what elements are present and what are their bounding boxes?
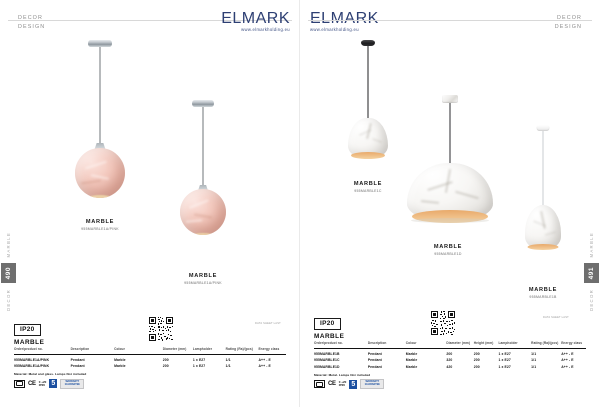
cell-energy-class: A++ - E <box>258 355 286 363</box>
ip-small-icon: 0 +20 IP20 <box>39 381 47 387</box>
col-order-no: Order/product no. <box>314 342 368 349</box>
product-name: MARBLE <box>529 287 557 293</box>
col-rating: Rating (Ra)/(pcs) <box>531 342 561 349</box>
side-tab-right: MARBLE 491 DECOR <box>584 232 599 312</box>
side-tab-top-label: MARBLE <box>6 232 11 257</box>
col-diameter: Diameter (mm) <box>446 342 473 349</box>
header-decor-design-left: DECOR DESIGN <box>18 14 45 36</box>
material-note: Material: Metal. Lamps Not included <box>314 373 586 377</box>
cell-colour: Marble <box>406 349 447 357</box>
cell-colour: Marble <box>114 355 163 363</box>
brand-logo-url: www.elmarkholding.eu <box>310 28 379 32</box>
header-line-2: DESIGN <box>555 23 582 32</box>
product-caption-1: MARBLE 955MARBLE1A/PINK <box>81 219 119 231</box>
cell-rating: 1/1 <box>531 363 561 369</box>
col-height: Height (mm) <box>474 342 499 349</box>
col-colour: Colour <box>114 348 163 355</box>
cell-description: Pendant <box>368 363 406 369</box>
page-number-right: 491 <box>584 263 599 283</box>
product-image-marble-globe-2 <box>163 100 243 260</box>
header-decor-design-right: DECOR DESIGN <box>555 14 582 36</box>
page-number-right-value: 491 <box>588 267 595 279</box>
col-energy-class: Energy class <box>561 342 586 349</box>
cell-colour: Marble <box>114 363 163 369</box>
product-caption-a: MARBLE 955MARBLE1C <box>354 181 382 193</box>
col-description: Description <box>71 348 114 355</box>
shade-rim <box>411 218 489 223</box>
product-caption-c: MARBLE 955MARBLE1B <box>529 287 557 299</box>
product-image-marble-globe-1 <box>60 40 140 200</box>
lamp-symbol-icon <box>14 380 25 389</box>
warranty-badge: WARRANTY GUARANTEE <box>60 379 84 389</box>
page-number-left: 490 <box>1 263 16 283</box>
canopy-chrome-icon <box>88 40 112 47</box>
shade-bottom-lip-2 <box>194 233 212 236</box>
cell-rating: 1/1 <box>226 363 259 369</box>
col-lampholder: Lampholder <box>193 348 226 355</box>
warranty-years-icon: 5 <box>49 379 57 388</box>
cell-colour: Marble <box>406 363 447 369</box>
warranty-text-2: GUARANTEE <box>365 384 380 387</box>
page-right: ELMARK www.elmarkholding.eu DECOR DESIGN… <box>300 0 600 407</box>
cell-rating: 1/1 <box>226 355 259 363</box>
cell-rating: 1/1 <box>531 349 561 357</box>
header-line-1: DECOR <box>555 14 582 23</box>
cell-description: Pendant <box>71 355 114 363</box>
shade-inner-gold <box>528 244 559 250</box>
header-line-1: DECOR <box>18 14 45 23</box>
brand-logo-text: ELMARK <box>221 11 290 27</box>
shade-white-marble-dome-small <box>525 205 561 249</box>
col-colour: Colour <box>406 342 447 349</box>
side-tab-top-label: MARBLE <box>589 232 594 257</box>
family-name: MARBLE <box>14 339 286 346</box>
canopy-marble-icon <box>442 95 458 103</box>
product-code: 955MARBLE1C <box>354 189 382 193</box>
spec-table-right: Order/product no. Description Colour Dia… <box>314 342 586 370</box>
certification-marks-left: CE 0 +20 IP20 5 WARRANTY GUARANTEE <box>14 379 286 389</box>
table-header-row: Order/product no. Description Colour Dia… <box>14 348 286 355</box>
cell-height: 200 <box>474 363 499 369</box>
table-row: 955MARBLE1A/PINK Pendant Marble 200 1 x … <box>14 363 286 369</box>
table-row: 955MARBLE1D Pendant Marble 420 200 1 x E… <box>314 363 586 369</box>
col-order-no: Order/product no. <box>14 348 71 355</box>
col-description: Description <box>368 342 406 349</box>
product-code: 955MARBLE1B <box>529 295 557 299</box>
cell-lampholder: 1 x E27 <box>193 363 226 369</box>
side-tab-left: MARBLE 490 DECOR <box>1 232 16 312</box>
cell-order-no: 955MARBLE1A/PINK <box>14 355 71 363</box>
cell-description: Pendant <box>368 349 406 357</box>
ip-small-bottom: IP20 <box>39 384 47 387</box>
ce-mark-icon: CE <box>28 381 36 387</box>
side-tab-bottom-label: DECOR <box>6 289 11 311</box>
suspension-cord-c <box>543 131 544 205</box>
cell-order-no: 955MARBLE1D <box>314 363 368 369</box>
product-code: 955MARBLE1D <box>434 252 462 256</box>
warranty-years-icon: 5 <box>349 380 357 389</box>
shade-pink-marble-globe-2 <box>180 189 226 235</box>
product-caption-b: MARBLE 955MARBLE1D <box>434 244 462 256</box>
catalog-spread: DECOR DESIGN ELMARK www.elmarkholding.eu… <box>0 0 600 407</box>
suspension-cord <box>100 47 101 145</box>
lamp-symbol-icon <box>314 380 325 389</box>
cell-diameter: 200 <box>163 363 193 369</box>
brand-logo-right: ELMARK www.elmarkholding.eu <box>310 11 379 33</box>
header-line-2: DESIGN <box>18 23 45 32</box>
cell-height: 200 <box>474 349 499 357</box>
certification-marks-right: CE 0 +20 IP20 5 WARRANTY GUARANTEE <box>314 379 586 389</box>
spec-table-left: Order/product no. Description Colour Dia… <box>14 348 286 369</box>
table-row: 955MARBLE1B Pendant Marble 200 200 1 x E… <box>314 349 586 357</box>
cell-order-no: 955MARBLE1A/PINK <box>14 363 71 369</box>
product-name: MARBLE <box>81 219 119 225</box>
shade-pink-marble-globe <box>75 148 125 198</box>
brand-logo-url: www.elmarkholding.eu <box>221 28 290 32</box>
page-number-left-value: 490 <box>5 267 12 279</box>
cell-diameter: 200 <box>163 355 193 363</box>
cell-energy-class: A++ - E <box>258 363 286 369</box>
ip-rating-badge: IP20 <box>314 318 341 330</box>
col-diameter: Diameter (mm) <box>163 348 193 355</box>
header-rule-right <box>308 20 592 21</box>
product-code: 955MARBLE1A/PINK <box>184 281 222 285</box>
spec-block-left: IP20 MARBLE Order/product no. Descriptio… <box>14 318 286 389</box>
shade-body <box>525 205 561 249</box>
cell-order-no: 955MARBLE1B <box>314 349 368 357</box>
warranty-text-2: GUARANTEE <box>65 384 80 387</box>
cell-lampholder: 1 x E27 <box>499 363 532 369</box>
table-header-row: Order/product no. Description Colour Dia… <box>314 342 586 349</box>
product-caption-2: MARBLE 955MARBLE1A/PINK <box>184 273 222 285</box>
shade-white-marble-dome-large <box>407 163 493 221</box>
cell-lampholder: 1 x E27 <box>193 355 226 363</box>
cell-energy-class: A++ - E <box>561 363 586 369</box>
material-note: Material: Metal and glass. Lamps Not inc… <box>14 372 286 376</box>
suspension-cord-2 <box>203 107 204 187</box>
shade-inner-gold <box>351 152 385 159</box>
product-code: 955MARBLE1A/PINK <box>81 227 119 231</box>
shade-white-marble-bell-small <box>348 118 388 158</box>
shade-bottom-lip <box>90 195 110 198</box>
family-name: MARBLE <box>314 333 586 340</box>
cell-lampholder: 1 x E27 <box>499 349 532 357</box>
brand-logo-left: ELMARK www.elmarkholding.eu <box>221 11 290 33</box>
suspension-cord-a <box>368 46 369 118</box>
ip-small-bottom: IP20 <box>339 384 347 387</box>
cell-energy-class: A++ - E <box>561 349 586 357</box>
ip-small-icon: 0 +20 IP20 <box>339 381 347 387</box>
suspension-cord-b <box>450 103 451 165</box>
cell-description: Pendant <box>71 363 114 369</box>
product-name: MARBLE <box>354 181 382 187</box>
product-image-marble-dome-small <box>505 125 581 285</box>
brand-logo-text: ELMARK <box>310 11 379 27</box>
cell-diameter: 200 <box>446 349 473 357</box>
col-lampholder: Lampholder <box>499 342 532 349</box>
side-tab-bottom-label: DECOR <box>589 289 594 311</box>
warranty-badge: WARRANTY GUARANTEE <box>360 379 384 389</box>
col-energy-class: Energy class <box>258 348 286 355</box>
table-row: 955MARBLE1A/PINK Pendant Marble 200 1 x … <box>14 355 286 363</box>
page-left: DECOR DESIGN ELMARK www.elmarkholding.eu… <box>0 0 300 407</box>
ip-rating-badge: IP20 <box>14 324 41 336</box>
product-image-marble-dome-large <box>395 95 505 265</box>
col-rating: Rating (Ra)/(pcs) <box>226 348 259 355</box>
product-name: MARBLE <box>184 273 222 279</box>
cell-diameter: 420 <box>446 363 473 369</box>
ce-mark-icon: CE <box>328 381 336 387</box>
product-name: MARBLE <box>434 244 462 250</box>
spec-block-right: IP20 MARBLE Order/product no. Descriptio… <box>314 312 586 389</box>
